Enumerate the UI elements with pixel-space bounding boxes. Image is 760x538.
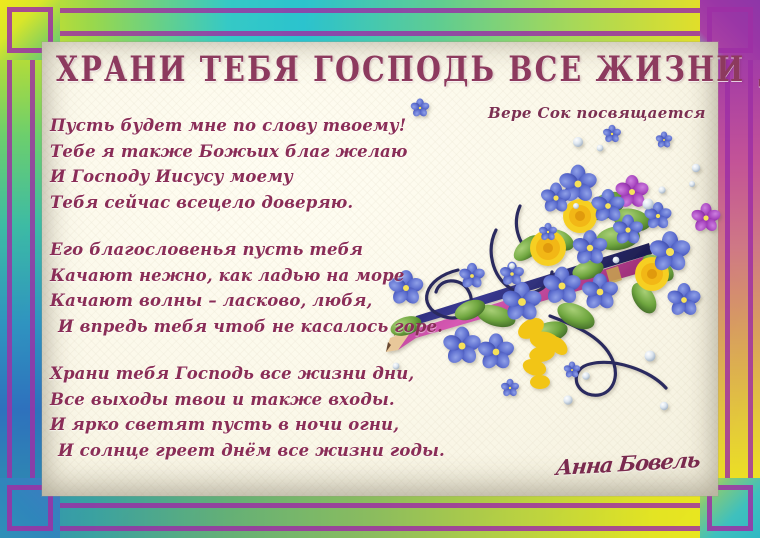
poem-stanza: Его благословенья пусть тебя Качают нежн… [50, 237, 470, 339]
card-title: ХРАНИ ТЕБЯ ГОСПОДЬ ВСЕ ЖИЗНИ ДНИ [56, 48, 706, 89]
poem-line: И Господу Иисусу моему [50, 164, 470, 190]
poem-line: Его благословенья пусть тебя [50, 237, 470, 263]
greeting-card: ХРАНИ ТЕБЯ ГОСПОДЬ ВСЕ ЖИЗНИ ДНИ Вере Со… [0, 0, 760, 538]
poem-stanza: Храни тебя Господь все жизни дни, Все вы… [50, 361, 470, 463]
poem-line: Все выходы твои и также входы. [50, 387, 470, 413]
poem-line: И солнце греет днём все жизни годы. [50, 438, 470, 464]
dedication-text: Вере Сок посвящается [488, 104, 706, 122]
poem-body: Пусть будет мне по слову твоему! Тебе я … [50, 113, 470, 463]
poem-line: Качают волны – ласково, любя, [50, 288, 470, 314]
poem-line: Пусть будет мне по слову твоему! [50, 113, 470, 139]
poem-line: Храни тебя Господь все жизни дни, [50, 361, 470, 387]
poem-line: Тебя сейчас всецело доверяю. [50, 190, 470, 216]
poem-line: И впредь тебя чтоб не касалось горе. [50, 314, 470, 340]
poem-line: Качают нежно, как ладью на море [50, 263, 470, 289]
poem-stanza: Пусть будет мне по слову твоему! Тебе я … [50, 113, 470, 215]
poem-line: И ярко светят пусть в ночи огни, [50, 412, 470, 438]
poem-line: Тебе я также Божьих благ желаю [50, 139, 470, 165]
